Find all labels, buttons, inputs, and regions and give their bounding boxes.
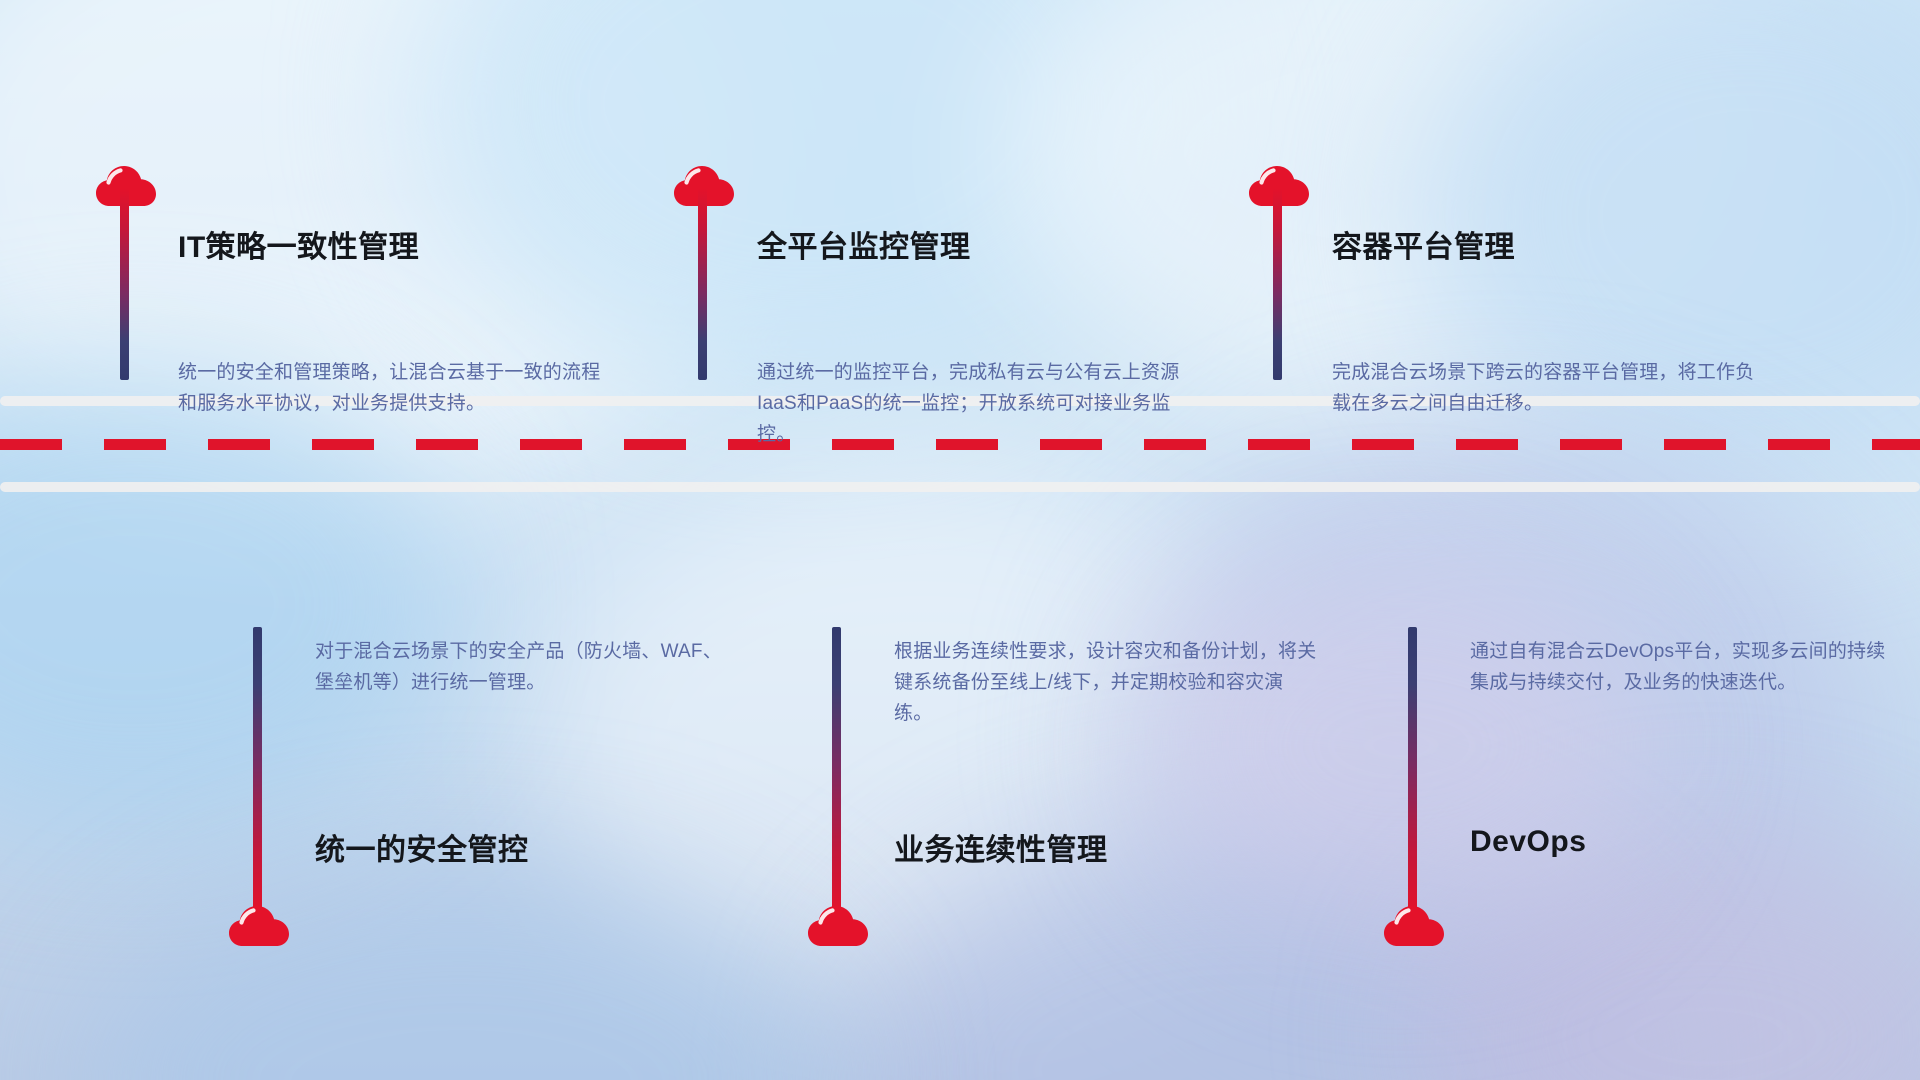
road-line-bottom bbox=[0, 482, 1920, 492]
feature-description: 根据业务连续性要求，设计容灾和备份计划，将关键系统备份至线上/线下，并定期校验和… bbox=[894, 637, 1319, 729]
feature-title: 业务连续性管理 bbox=[894, 825, 1108, 869]
cloud-icon bbox=[228, 903, 290, 947]
feature-description: 对于混合云场景下的安全产品（防火墙、WAF、堡垒机等）进行统一管理。 bbox=[315, 637, 735, 699]
connector-stem bbox=[120, 188, 129, 380]
feature-title: 容器平台管理 bbox=[1332, 222, 1515, 266]
connector-stem bbox=[1408, 627, 1417, 915]
connector-stem bbox=[253, 627, 262, 915]
feature-description: 通过自有混合云DevOps平台，实现多云间的持续集成与持续交付，及业务的快速迭代… bbox=[1470, 637, 1888, 699]
cloud-icon bbox=[1383, 903, 1445, 947]
background-blob bbox=[1152, 562, 1651, 929]
feature-title: DevOps bbox=[1470, 825, 1586, 859]
connector-stem bbox=[832, 627, 841, 915]
feature-title: IT策略一致性管理 bbox=[178, 222, 419, 266]
feature-title: 统一的安全管控 bbox=[315, 825, 529, 869]
feature-description: 统一的安全和管理策略，让混合云基于一致的流程和服务水平协议，对业务提供支持。 bbox=[178, 358, 610, 420]
feature-description: 通过统一的监控平台，完成私有云与公有云上资源IaaS和PaaS的统一监控；开放系… bbox=[757, 358, 1195, 450]
connector-stem bbox=[698, 188, 707, 380]
connector-stem bbox=[1273, 188, 1282, 380]
feature-title: 全平台监控管理 bbox=[757, 222, 971, 266]
cloud-icon bbox=[807, 903, 869, 947]
feature-description: 完成混合云场景下跨云的容器平台管理，将工作负载在多云之间自由迁移。 bbox=[1332, 358, 1762, 420]
